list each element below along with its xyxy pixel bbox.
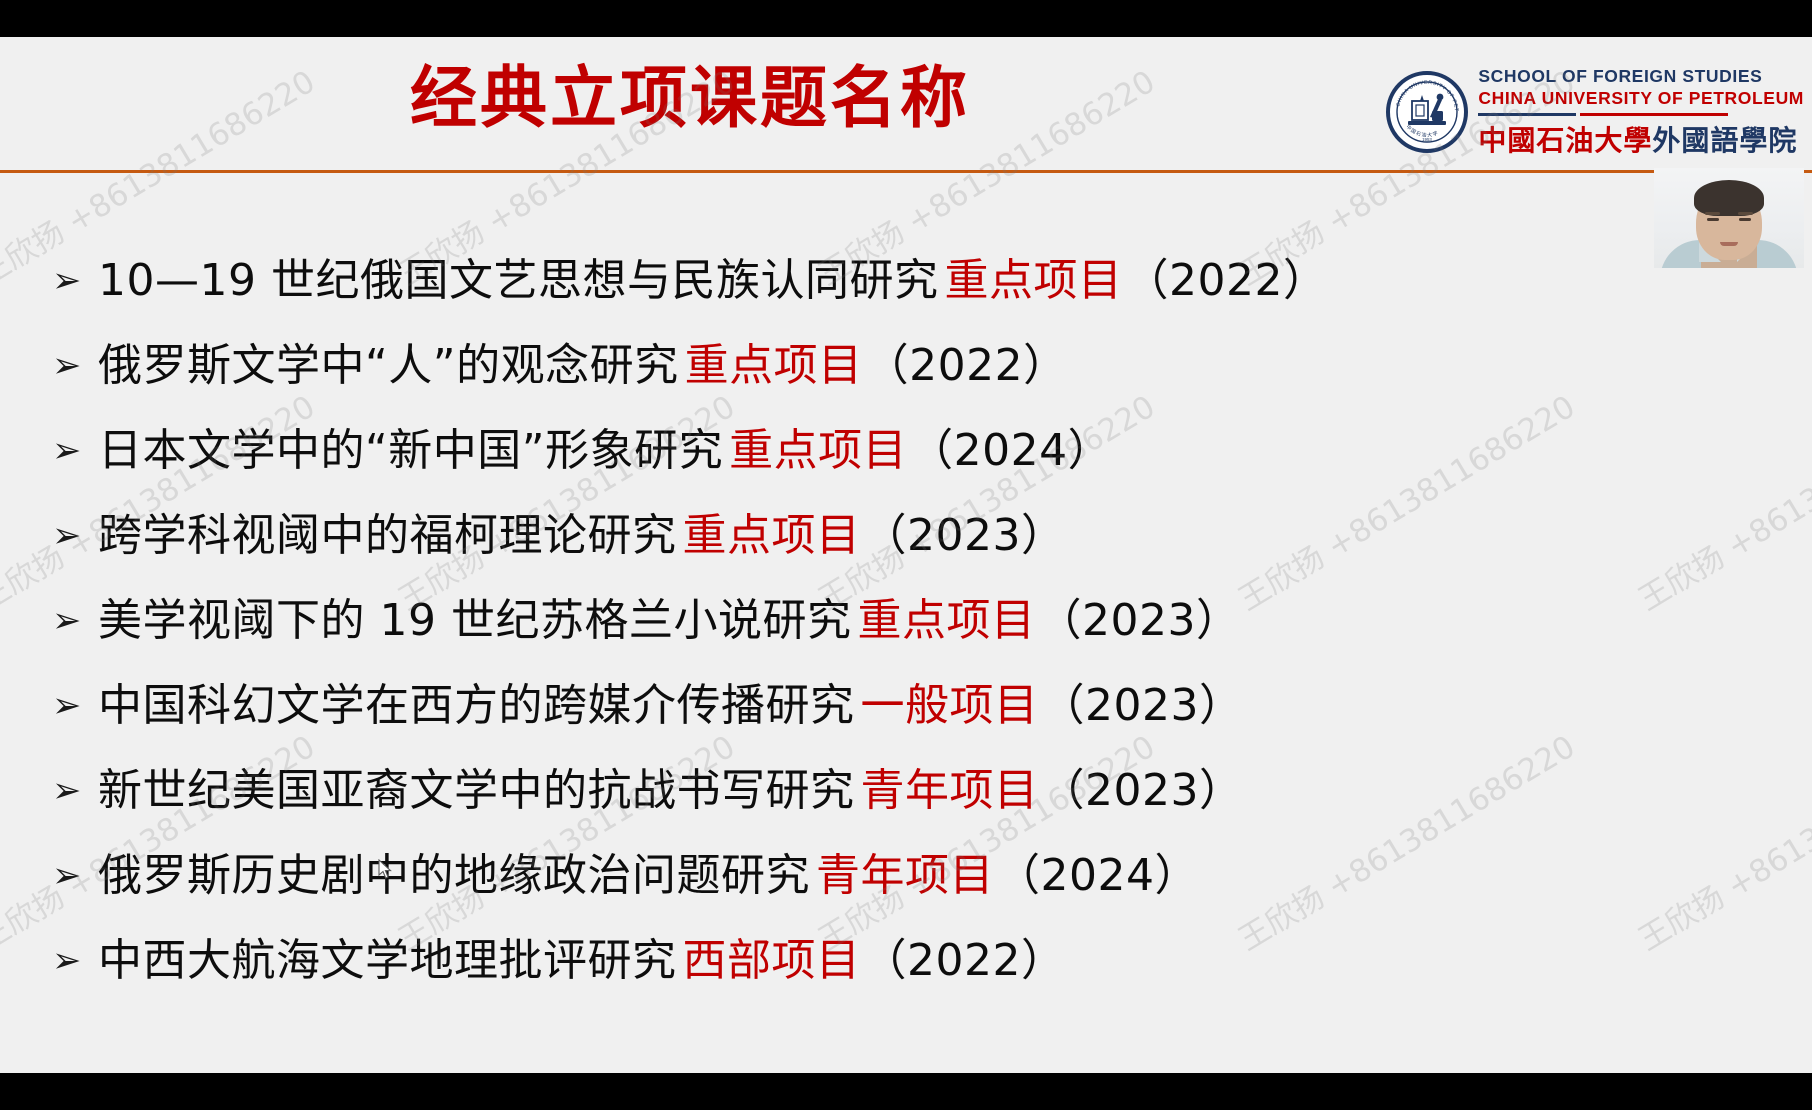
- list-item-year: （2023）: [1041, 765, 1244, 816]
- list-item-title: 俄罗斯文学中“人”的观念研究: [98, 340, 679, 391]
- list-item-title: 10—19 世纪俄国文艺思想与民族认同研究: [98, 255, 938, 306]
- logo-bar-red: [1580, 113, 1728, 116]
- list-item: ➢ 日本文学中的“新中国”形象研究重点项目（2024）: [52, 429, 1752, 514]
- list-item: ➢ 10—19 世纪俄国文艺思想与民族认同研究重点项目（2022）: [52, 259, 1752, 344]
- list-item-content: 10—19 世纪俄国文艺思想与民族认同研究重点项目（2022）: [98, 259, 1327, 303]
- university-seal-icon: 1953 CHINA UNIVERSITY OF PETROLEUM 中国石油大…: [1386, 71, 1468, 153]
- list-item-content: 中国科幻文学在西方的跨媒介传播研究一般项目（2023）: [98, 684, 1243, 728]
- bullet-arrow-icon: ➢: [52, 774, 98, 809]
- logo-chinese-name: 中國石油大學外國語學院: [1478, 119, 1804, 159]
- list-item: ➢ 俄罗斯文学中“人”的观念研究重点项目（2022）: [52, 344, 1752, 429]
- bullet-arrow-icon: ➢: [52, 944, 98, 979]
- list-item-year: （2023）: [1037, 595, 1240, 646]
- presenter-video-overlay[interactable]: [1654, 168, 1804, 268]
- presentation-slide: 经典立项课题名称 1953: [0, 37, 1812, 1073]
- logo-text-block: SCHOOL OF FOREIGN STUDIES CHINA UNIVERSI…: [1478, 66, 1804, 159]
- list-item-content: 跨学科视阈中的福柯理论研究重点项目（2023）: [98, 514, 1065, 558]
- logo-rule-bars: [1478, 113, 1804, 116]
- list-item: ➢ 中国科幻文学在西方的跨媒介传播研究一般项目（2023）: [52, 684, 1752, 769]
- list-item-title: 中国科幻文学在西方的跨媒介传播研究: [98, 680, 855, 731]
- list-item-tag: 重点项目: [723, 425, 909, 476]
- list-item-title: 中西大航海文学地理批评研究: [98, 935, 677, 986]
- presenter-hair: [1694, 180, 1764, 216]
- university-logo: 1953 CHINA UNIVERSITY OF PETROLEUM 中国石油大…: [1386, 60, 1804, 164]
- list-item-tag: 重点项目: [851, 595, 1037, 646]
- list-item-title: 日本文学中的“新中国”形象研究: [98, 425, 723, 476]
- title-divider: [0, 170, 1812, 173]
- page-title: 经典立项课题名称: [0, 59, 1380, 138]
- list-item-tag: 西部项目: [677, 935, 863, 986]
- logo-line-school: SCHOOL OF FOREIGN STUDIES: [1478, 66, 1804, 87]
- bullet-arrow-icon: ➢: [52, 264, 98, 299]
- list-item-year: （2024）: [996, 850, 1199, 901]
- list-item: ➢ 跨学科视阈中的福柯理论研究重点项目（2023）: [52, 514, 1752, 599]
- list-item-content: 新世纪美国亚裔文学中的抗战书写研究青年项目（2023）: [98, 769, 1243, 813]
- bullet-arrow-icon: ➢: [52, 859, 98, 894]
- list-item-year: （2023）: [863, 510, 1066, 561]
- list-item: ➢ 新世纪美国亚裔文学中的抗战书写研究青年项目（2023）: [52, 769, 1752, 854]
- list-item-year: （2022）: [863, 935, 1066, 986]
- list-item: ➢ 美学视阈下的 19 世纪苏格兰小说研究重点项目（2023）: [52, 599, 1752, 684]
- bullet-list: ➢ 10—19 世纪俄国文艺思想与民族认同研究重点项目（2022） ➢ 俄罗斯文…: [52, 259, 1752, 1024]
- list-item-content: 俄罗斯文学中“人”的观念研究重点项目（2022）: [98, 344, 1068, 388]
- screen-capture: 经典立项课题名称 1953: [0, 0, 1812, 1110]
- list-item-content: 美学视阈下的 19 世纪苏格兰小说研究重点项目（2023）: [98, 599, 1240, 643]
- presenter-eye-right: [1739, 218, 1751, 221]
- presenter-eye-left: [1707, 218, 1719, 221]
- list-item-tag: 重点项目: [938, 255, 1124, 306]
- list-item: ➢ 俄罗斯历史剧中的地缘政治问题研究青年项目（2024）: [52, 854, 1752, 939]
- letterbox-bottom: [0, 1073, 1812, 1110]
- bullet-arrow-icon: ➢: [52, 349, 98, 384]
- presenter-eyebrow-right: [1738, 212, 1753, 215]
- logo-bar-blue: [1478, 113, 1576, 116]
- list-item-title: 美学视阈下的 19 世纪苏格兰小说研究: [98, 595, 851, 646]
- list-item-tag: 重点项目: [679, 340, 865, 391]
- title-block: 经典立项课题名称: [0, 59, 1380, 138]
- list-item-year: （2022）: [865, 340, 1068, 391]
- list-item-content: 日本文学中的“新中国”形象研究重点项目（2024）: [98, 429, 1112, 473]
- bullet-arrow-icon: ➢: [52, 519, 98, 554]
- bullet-arrow-icon: ➢: [52, 689, 98, 724]
- list-item-year: （2022）: [1124, 255, 1327, 306]
- mouse-cursor-icon: [378, 859, 394, 886]
- list-item-tag: 重点项目: [677, 510, 863, 561]
- logo-line-university: CHINA UNIVERSITY OF PETROLEUM: [1478, 88, 1804, 109]
- list-item-tag: 青年项目: [855, 765, 1041, 816]
- list-item-year: （2024）: [909, 425, 1112, 476]
- letterbox-top: [0, 0, 1812, 37]
- presenter-eyebrow-left: [1705, 212, 1720, 215]
- list-item-year: （2023）: [1041, 680, 1244, 731]
- list-item-content: 俄罗斯历史剧中的地缘政治问题研究青年项目（2024）: [98, 854, 1199, 898]
- list-item-content: 中西大航海文学地理批评研究西部项目（2022）: [98, 939, 1065, 983]
- bullet-arrow-icon: ➢: [52, 434, 98, 469]
- list-item-tag: 青年项目: [810, 850, 996, 901]
- list-item-title: 俄罗斯历史剧中的地缘政治问题研究: [98, 850, 810, 901]
- logo-chinese-sub: 外國語學院: [1652, 124, 1797, 157]
- list-item-tag: 一般项目: [855, 680, 1041, 731]
- list-item-title: 新世纪美国亚裔文学中的抗战书写研究: [98, 765, 855, 816]
- list-item: ➢ 中西大航海文学地理批评研究西部项目（2022）: [52, 939, 1752, 1024]
- presenter-mouth: [1720, 242, 1738, 246]
- list-item-title: 跨学科视阈中的福柯理论研究: [98, 510, 677, 561]
- logo-chinese-main: 中國石油大學: [1478, 124, 1652, 157]
- bullet-arrow-icon: ➢: [52, 604, 98, 639]
